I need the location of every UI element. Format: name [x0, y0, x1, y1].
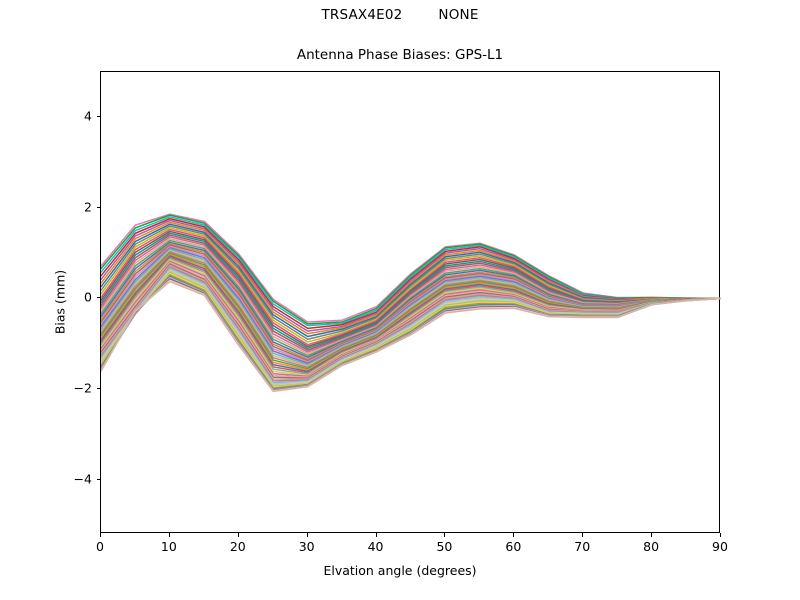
y-axis-label: Bias (mm): [53, 270, 68, 334]
x-tick-mark: [582, 533, 583, 537]
x-tick-label: 50: [414, 539, 474, 554]
x-tick-label: 30: [277, 539, 337, 554]
x-tick-mark: [238, 533, 239, 537]
y-tick-mark: [97, 479, 101, 480]
x-tick-mark: [444, 533, 445, 537]
x-tick-label: 20: [208, 539, 268, 554]
x-tick-label: 90: [690, 539, 750, 554]
x-tick-mark: [100, 533, 101, 537]
x-tick-label: 70: [552, 539, 612, 554]
x-tick-label: 40: [346, 539, 406, 554]
x-tick-label: 10: [139, 539, 199, 554]
plot-axes: [100, 71, 720, 533]
figure-suptitle: TRSAX4E02 NONE: [0, 7, 800, 23]
x-axis-label: Elvation angle (degrees): [0, 563, 800, 578]
x-tick-label: 0: [70, 539, 130, 554]
y-tick-mark: [97, 388, 101, 389]
x-tick-mark: [307, 533, 308, 537]
x-tick-mark: [376, 533, 377, 537]
x-tick-mark: [651, 533, 652, 537]
x-tick-mark: [720, 533, 721, 537]
x-tick-mark: [169, 533, 170, 537]
figure-canvas: TRSAX4E02 NONE Antenna Phase Biases: GPS…: [0, 0, 800, 600]
y-tick-label: −2: [52, 381, 92, 396]
y-tick-label: −4: [52, 471, 92, 486]
series-lines-svg: [101, 72, 721, 534]
y-tick-label: 2: [52, 199, 92, 214]
chart-title: Antenna Phase Biases: GPS-L1: [0, 47, 800, 63]
x-tick-label: 60: [483, 539, 543, 554]
y-tick-mark: [97, 297, 101, 298]
x-tick-label: 80: [621, 539, 681, 554]
y-tick-mark: [97, 116, 101, 117]
y-tick-mark: [97, 207, 101, 208]
y-tick-label: 4: [52, 109, 92, 124]
x-tick-mark: [513, 533, 514, 537]
